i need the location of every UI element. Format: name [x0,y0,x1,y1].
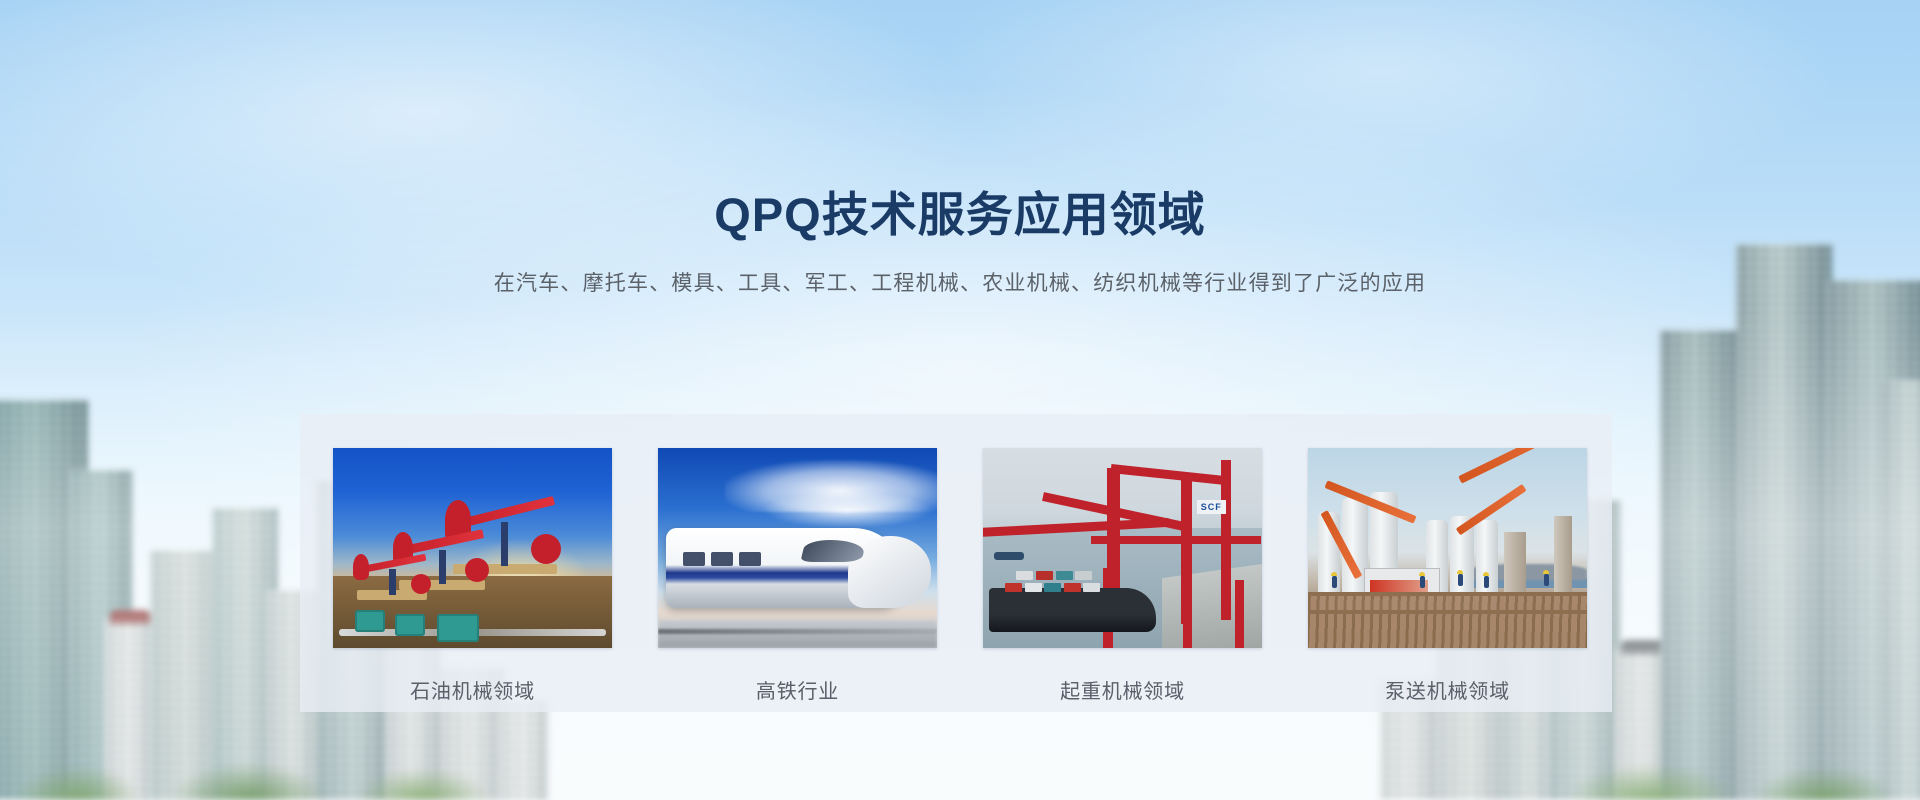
scf-logo: SCF [1197,500,1226,514]
list-item[interactable]: 石油机械领域 [333,448,612,704]
container [1064,583,1081,592]
container [1075,571,1092,580]
card-caption: 起重机械领域 [983,675,1262,704]
pump-boom [1458,448,1578,484]
port-gantry-cranes-image[interactable]: SCF [983,448,1262,648]
wellhead-valve [437,614,479,642]
pumpjack-mast [389,569,396,595]
cloud [764,492,931,528]
pumpjack-counterweight [465,558,489,582]
pumpjack-head [353,554,369,580]
container-ship [989,588,1156,632]
list-item[interactable]: 高铁行业 [658,448,937,704]
page-subtitle: 在汽车、摩托车、模具、工具、军工、工程机械、农业机械、纺织机械等行业得到了广泛的… [0,267,1920,297]
hard-hat [1457,570,1463,574]
deck-rail [1308,592,1587,596]
card-caption: 泵送机械领域 [1308,675,1587,704]
application-fields-panel: 石油机械领域 高铁行业 [300,414,1612,712]
crane-boom [1111,464,1231,485]
wellhead-valve [355,610,385,632]
hard-hat [1419,572,1425,576]
train-window [683,552,705,566]
worker [1332,576,1337,588]
crane-leg [1183,576,1192,648]
concrete-pumping-site-image[interactable] [1308,448,1587,648]
worker [1484,576,1489,588]
crane-leg [1235,580,1244,648]
card-list: 石油机械领域 高铁行业 [333,448,1587,704]
pumpjack-counterweight [531,534,561,564]
quay-deck [1162,564,1262,648]
list-item[interactable]: SCF 起重机械领域 [983,448,1262,704]
hard-hat [1543,570,1549,574]
pumpjack-mast [501,522,508,566]
oil-pumpjacks-image[interactable] [333,448,612,648]
worker [1420,576,1425,588]
container [1083,583,1100,592]
rebar-deck [1308,592,1587,648]
pumpjack [353,552,433,600]
train-window [739,552,761,566]
container [1016,571,1033,580]
page-title: QPQ技术服务应用领域 [0,188,1920,243]
pumpjack-mast [439,550,446,584]
container [1025,583,1042,592]
card-caption: 高铁行业 [658,675,937,704]
pumpjack-counterweight [411,574,431,594]
worker [1458,574,1463,586]
wellhead-valve [395,614,425,636]
trackbed [658,620,937,648]
crane-girder [1091,536,1261,544]
high-speed-train-image[interactable] [658,448,937,648]
rail-line [658,629,937,634]
list-item[interactable]: 泵送机械领域 [1308,448,1587,704]
hard-hat [1331,572,1337,576]
hard-hat [1483,572,1489,576]
worker [1544,574,1549,586]
tugboat [994,552,1024,560]
container [1005,583,1022,592]
container [1036,571,1053,580]
deck-rail [1308,610,1587,614]
train-window [711,552,733,566]
header-block: QPQ技术服务应用领域 在汽车、摩托车、模具、工具、军工、工程机械、农业机械、纺… [0,188,1920,297]
card-caption: 石油机械领域 [333,675,612,704]
container [1056,571,1073,580]
container [1044,583,1061,592]
